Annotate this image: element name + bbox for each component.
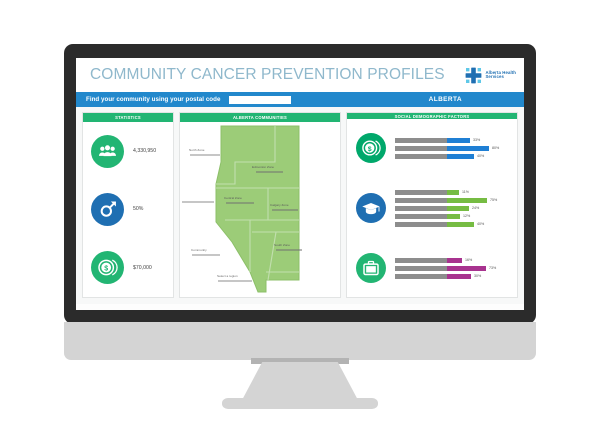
map-label-central: Central Zone — [224, 196, 242, 200]
stat-row-income[interactable]: $ $70,000 — [83, 239, 173, 297]
bar-row: 40% — [395, 154, 511, 159]
bar-value: 24% — [472, 206, 479, 210]
people-group-icon — [91, 135, 124, 168]
map-label-select-region: Select a region — [217, 274, 238, 278]
bar-row: 24% — [395, 206, 511, 211]
map-label-community: Community — [191, 248, 207, 252]
bar-value: 16% — [465, 258, 472, 262]
bar-value: 40% — [477, 222, 484, 226]
bar-value: 40% — [477, 154, 484, 158]
svg-text:$: $ — [368, 146, 372, 153]
social-panel-body: $ 33% 80% — [347, 119, 517, 297]
dashboard-panels: STATISTICS — [76, 107, 524, 304]
dollar-coin-icon: $ — [91, 251, 124, 284]
briefcase-icon — [356, 253, 386, 283]
postal-code-input[interactable] — [229, 96, 291, 104]
bar-value: 12% — [463, 214, 470, 218]
social-group-employment: 16% 73% 30% — [347, 239, 517, 297]
social-group-income: $ 33% 80% — [347, 119, 517, 177]
bar-row: 33% — [395, 138, 511, 143]
bar-value: 33% — [473, 138, 480, 142]
logo-line-2: Services — [485, 75, 516, 80]
male-gender-icon — [91, 193, 124, 226]
logo-wordmark: Alberta Health Services — [485, 71, 516, 80]
bar-value: 80% — [492, 146, 499, 150]
map-label-calgary: Calgary Zone — [270, 203, 289, 207]
stat-value-income: $70,000 — [133, 265, 152, 271]
bar-row: 30% — [395, 274, 511, 279]
page-title: COMMUNITY CANCER PREVENTION PROFILES — [90, 66, 445, 84]
map-label-south: South Zone — [274, 243, 290, 247]
alberta-health-services-logo: Alberta Health Services — [465, 67, 516, 84]
statistics-panel-body: 4,330,950 50% — [83, 122, 173, 297]
map-label-edmonton: Edmonton Zone — [252, 165, 274, 169]
stat-value-gender: 50% — [133, 206, 143, 212]
monitor-base — [222, 398, 378, 409]
bar-row: 80% — [395, 146, 511, 151]
monitor-chin — [64, 322, 536, 360]
screen-content: COMMUNITY CANCER PREVENTION PROFILES Alb… — [76, 58, 524, 310]
graduation-cap-icon — [356, 193, 386, 223]
education-bars: 11% 75% 24% — [395, 190, 511, 227]
stat-row-population[interactable]: 4,330,950 — [83, 122, 173, 180]
postal-code-search-bar: Find your community using your postal co… — [76, 92, 524, 107]
bar-row: 16% — [395, 258, 511, 263]
map-panel-header: ALBERTA COMMUNITIES — [180, 113, 340, 122]
map-panel: ALBERTA COMMUNITIES — [179, 112, 341, 298]
bar-value: 30% — [474, 274, 481, 278]
social-group-education: 11% 75% 24% — [347, 177, 517, 239]
svg-text:$: $ — [104, 266, 108, 273]
map-header-label: ALBERTA COMMUNITIES — [233, 115, 287, 120]
statistics-panel: STATISTICS — [82, 112, 174, 298]
dollar-coin-icon: $ — [356, 133, 386, 163]
income-bars: 33% 80% 40% — [395, 138, 511, 159]
monitor-stand — [241, 362, 359, 402]
statistics-panel-header: STATISTICS — [83, 113, 173, 122]
map-label-north: North Zone — [189, 148, 204, 152]
bar-row: 73% — [395, 266, 511, 271]
alberta-map[interactable]: Edmonton Zone Central Zone Calgary Zone … — [180, 122, 340, 297]
search-label: Find your community using your postal co… — [86, 96, 220, 103]
bar-row: 12% — [395, 214, 511, 219]
social-demographic-panel: SOCIAL DEMOGRAPHIC FACTORS $ — [346, 112, 518, 298]
app-header: COMMUNITY CANCER PREVENTION PROFILES Alb… — [76, 58, 524, 92]
stat-value-population: 4,330,950 — [133, 148, 156, 154]
screenshot-stage: COMMUNITY CANCER PREVENTION PROFILES Alb… — [0, 0, 600, 447]
statistics-header-label: STATISTICS — [115, 115, 141, 120]
bar-row: 75% — [395, 198, 511, 203]
bar-row: 11% — [395, 190, 511, 195]
bar-value: 73% — [489, 266, 496, 270]
bar-value: 11% — [462, 190, 469, 194]
logo-cross-icon — [465, 67, 482, 84]
region-label: ALBERTA — [429, 96, 514, 103]
bar-row: 40% — [395, 222, 511, 227]
social-header-label: SOCIAL DEMOGRAPHIC FACTORS — [395, 114, 470, 119]
map-panel-body: Edmonton Zone Central Zone Calgary Zone … — [180, 122, 340, 297]
stat-row-gender[interactable]: 50% — [83, 180, 173, 238]
bar-value: 75% — [490, 198, 497, 202]
employment-bars: 16% 73% 30% — [395, 258, 511, 279]
